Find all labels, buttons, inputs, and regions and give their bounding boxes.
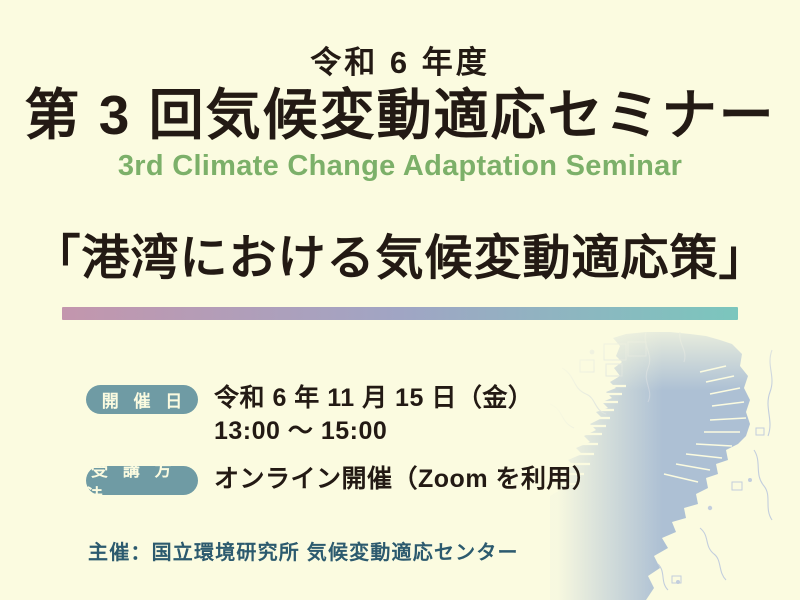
date-badge: 開 催 日 <box>86 385 198 414</box>
era-line: 令和 6 年度 <box>0 46 800 81</box>
detail-row-date: 開 催 日 令和 6 年 11 月 15 日（金） 13:00 〜 15:00 <box>86 382 646 447</box>
english-subtitle: 3rd Climate Change Adaptation Seminar <box>0 151 800 183</box>
format-badge: 受 講 方 法 <box>86 466 198 495</box>
format-line: オンライン開催（Zoom を利用） <box>214 463 598 496</box>
seminar-poster: 令和 6 年度 第 3 回気候変動適応セミナー 3rd Climate Chan… <box>0 0 800 600</box>
poster-header: 令和 6 年度 第 3 回気候変動適応セミナー 3rd Climate Chan… <box>0 0 800 183</box>
date-values: 令和 6 年 11 月 15 日（金） 13:00 〜 15:00 <box>214 382 533 447</box>
gradient-divider <box>62 307 738 320</box>
details-section: 開 催 日 令和 6 年 11 月 15 日（金） 13:00 〜 15:00 … <box>86 382 646 512</box>
time-line: 13:00 〜 15:00 <box>214 415 533 448</box>
page-title: 第 3 回気候変動適応セミナー <box>0 85 800 146</box>
map-pier-lines-e <box>664 366 746 482</box>
date-line: 令和 6 年 11 月 15 日（金） <box>214 382 533 415</box>
theme-title: 「港湾における気候変動適応策」 <box>0 232 800 286</box>
detail-row-format: 受 講 方 法 オンライン開催（Zoom を利用） <box>86 463 646 496</box>
format-values: オンライン開催（Zoom を利用） <box>214 463 598 496</box>
organizer-line: 主催：国立環境研究所 気候変動適応センター <box>88 536 519 565</box>
theme-section: 「港湾における気候変動適応策」 <box>0 232 800 286</box>
